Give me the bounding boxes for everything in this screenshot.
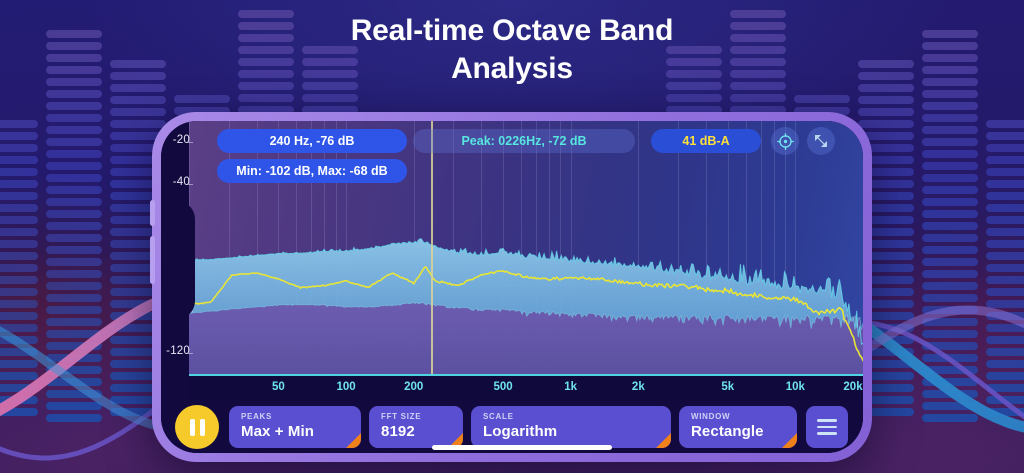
pause-icon-bar-left [190, 419, 195, 436]
x-axis-label: 100 [336, 381, 355, 393]
control-fft-size-label: FFT SIZE [381, 412, 421, 421]
home-indicator [432, 445, 612, 450]
x-axis-label: 1k [564, 381, 577, 393]
x-axis-label: 2k [632, 381, 645, 393]
page-title-line1: Real-time Octave Band [351, 14, 674, 47]
phone-side-button-a[interactable] [150, 200, 155, 226]
phone-mockup: -20-40-60-80-100-120 501002005001k2k5k10… [152, 112, 872, 462]
control-fft-size[interactable]: FFT SIZE 8192 [369, 406, 463, 448]
menu-line [817, 432, 837, 435]
expand-icon[interactable] [807, 127, 835, 155]
control-peaks-label: PEAKS [241, 412, 272, 421]
control-window-value: Rectangle [691, 423, 764, 440]
badge-cursor-readout[interactable]: 240 Hz, -76 dB [217, 129, 407, 153]
phone-side-button-b[interactable] [150, 236, 155, 284]
page-title: Real-time Octave Band Analysis [0, 12, 1024, 89]
badge-minmax-readout[interactable]: Min: -102 dB, Max: -68 dB [217, 159, 407, 183]
page-title-line2: Analysis [0, 50, 1024, 88]
control-scale-value: Logarithm [483, 423, 557, 440]
x-axis-label: 500 [493, 381, 512, 393]
x-axis-label: 20k [843, 381, 862, 393]
app-screen: -20-40-60-80-100-120 501002005001k2k5k10… [161, 121, 863, 453]
dropdown-corner-icon [782, 433, 797, 448]
dropdown-corner-icon [346, 433, 361, 448]
menu-line [817, 426, 837, 429]
badge-spl-readout[interactable]: 41 dB-A [651, 129, 761, 153]
badge-peak-readout[interactable]: Peak: 0226Hz, -72 dB [413, 129, 635, 153]
screenshot-root: Real-time Octave Band Analysis -20-40-60… [0, 0, 1024, 473]
x-axis-label: 5k [721, 381, 734, 393]
y-axis-tick [188, 184, 193, 185]
dropdown-corner-icon [656, 433, 671, 448]
control-window-label: WINDOW [691, 412, 730, 421]
menu-icon[interactable] [806, 406, 848, 448]
control-peaks[interactable]: PEAKS Max + Min [229, 406, 361, 448]
y-axis-tick [188, 353, 193, 354]
phone-screen: -20-40-60-80-100-120 501002005001k2k5k10… [161, 121, 863, 453]
x-axis-label: 50 [272, 381, 285, 393]
menu-line [817, 419, 837, 422]
control-window[interactable]: WINDOW Rectangle [679, 406, 797, 448]
control-peaks-value: Max + Min [241, 423, 314, 440]
control-fft-size-value: 8192 [381, 423, 415, 440]
phone-notch [161, 201, 195, 319]
control-scale-label: SCALE [483, 412, 514, 421]
x-axis-label: 200 [404, 381, 423, 393]
readout-badges: 240 Hz, -76 dB Min: -102 dB, Max: -68 dB… [161, 121, 863, 181]
pause-icon-bar-right [200, 419, 205, 436]
x-axis-label: 10k [786, 381, 805, 393]
control-scale[interactable]: SCALE Logarithm [471, 406, 671, 448]
y-axis-label: -120 [166, 345, 190, 357]
pause-button[interactable] [175, 405, 219, 449]
crosshair-icon[interactable] [771, 127, 799, 155]
x-axis: 501002005001k2k5k10k20k [189, 374, 863, 400]
